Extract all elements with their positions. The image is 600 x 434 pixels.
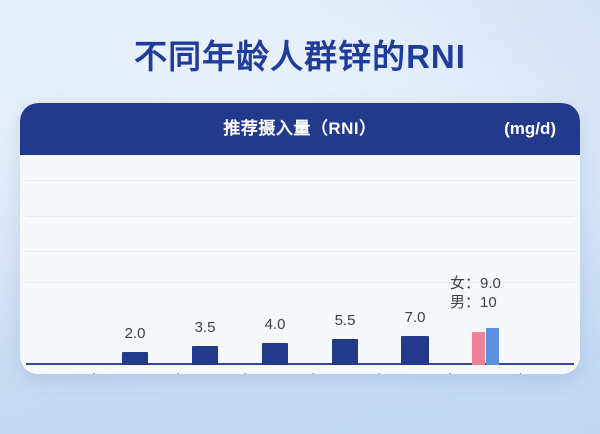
bar-7sui[interactable] [332, 339, 358, 365]
bar-value-2.0: 2.0 [125, 325, 146, 342]
x-label-1sui: 1岁 [229, 370, 252, 374]
x-label-11sui: 11岁 [427, 370, 458, 374]
bar-11sui[interactable] [401, 336, 429, 365]
bar-1sui[interactable] [192, 346, 218, 365]
card-header-unit: (mg/d) [504, 103, 556, 155]
page-title: 不同年龄人群锌的RNI [0, 30, 600, 78]
x-label-4sui: 4岁 [297, 370, 320, 374]
card-header: 推荐摄入量（RNI） (mg/d) [20, 103, 580, 155]
gridline-12 [26, 180, 574, 181]
bar-14sui-male[interactable] [486, 328, 499, 365]
x-label-0.5sui: 0.5岁 [150, 370, 186, 374]
chart-card: 推荐摄入量（RNI） (mg/d) 2.0 3.5 4.0 5.5 7.0 [20, 103, 580, 374]
chart-plot-area: 2.0 3.5 4.0 5.5 7.0 女：9.0 男：10 0岁 0.5岁 1… [20, 155, 580, 374]
x-label-14sui: 14岁 [496, 370, 528, 374]
bar-value-4.0: 4.0 [265, 316, 286, 333]
x-label-0sui: 0岁 [78, 370, 101, 374]
annotation-male-value: 男：10 [450, 291, 497, 312]
bar-value-7.0: 7.0 [405, 309, 426, 326]
x-label-7sui: 7岁 [363, 370, 386, 374]
card-header-title: 推荐摄入量（RNI） [20, 103, 580, 155]
bar-0.5sui[interactable] [122, 352, 148, 365]
bar-4sui[interactable] [262, 343, 288, 365]
gridline-9 [26, 216, 574, 217]
bar-value-5.5: 5.5 [335, 312, 356, 329]
chart-page: 不同年龄人群锌的RNI 推荐摄入量（RNI） (mg/d) 2.0 3.5 4.… [0, 0, 600, 434]
gridline-6 [26, 251, 574, 252]
annotation-female-value: 女：9.0 [450, 272, 501, 293]
bar-value-3.5: 3.5 [195, 319, 216, 336]
bar-14sui-female[interactable] [472, 332, 485, 365]
